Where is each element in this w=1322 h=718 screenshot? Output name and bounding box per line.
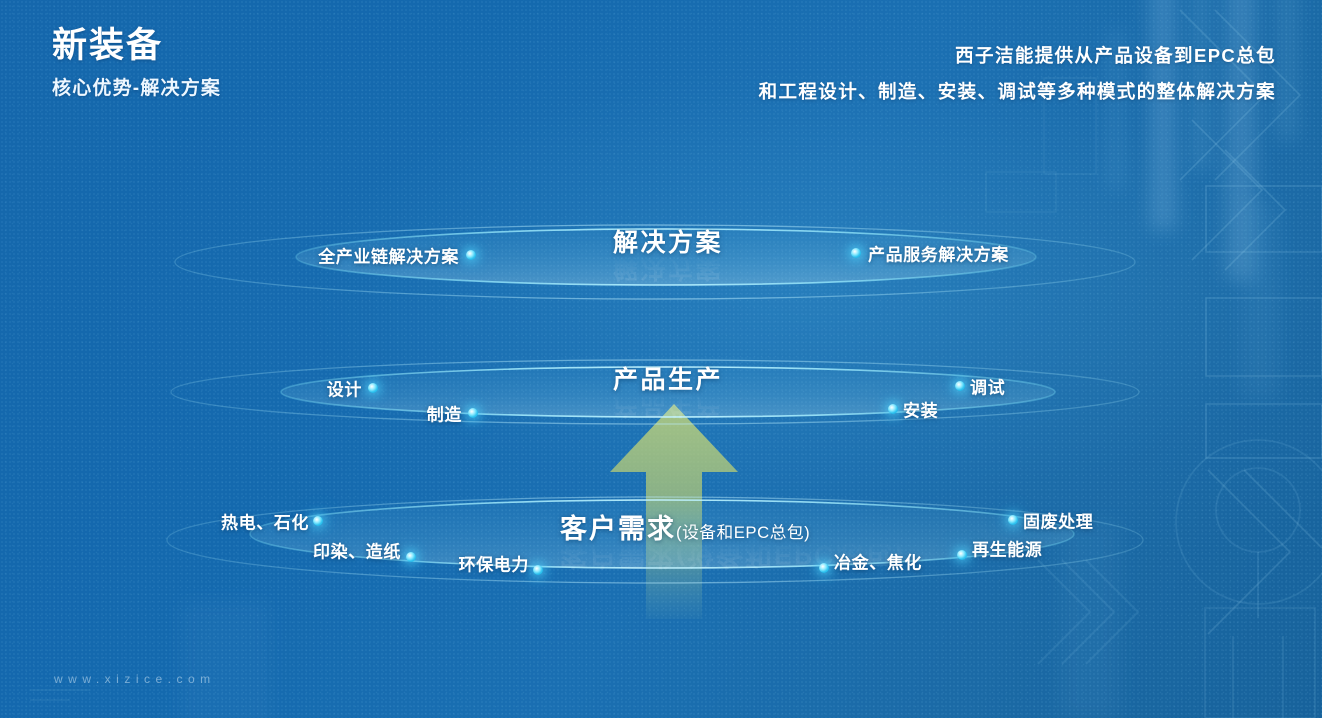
node-label-zai-sheng-neng-yuan[interactable]: 再生能源 [972,536,1042,561]
footer-url: www.xizice.com [54,672,216,686]
node-dot[interactable] [406,552,416,562]
node-dot[interactable] [957,550,967,560]
node-dot[interactable] [533,565,543,575]
node-label-ye-jin-jiao-hua[interactable]: 冶金、焦化 [834,549,922,574]
layer-demand-title-sub: (设备和EPC总包) [676,523,810,542]
node-dot[interactable] [1008,515,1018,525]
node-label-huan-bao-dian-li[interactable]: 环保电力 [459,551,529,576]
node-label-gu-fei-chu-li[interactable]: 固废处理 [1023,508,1093,533]
slide-canvas: 新装备 核心优势-解决方案 西子洁能提供从产品设备到EPC总包 和工程设计、制造… [0,0,1322,718]
layer-demand-title: 客户需求(设备和EPC总包) [560,507,810,546]
node-label-re-dian-shi-hua[interactable]: 热电、石化 [221,509,309,534]
node-label-yin-ran-zao-zhi[interactable]: 印染、造纸 [313,538,401,563]
layer-demand-ring [0,0,1322,660]
node-dot[interactable] [313,516,323,526]
node-dot[interactable] [819,563,829,573]
